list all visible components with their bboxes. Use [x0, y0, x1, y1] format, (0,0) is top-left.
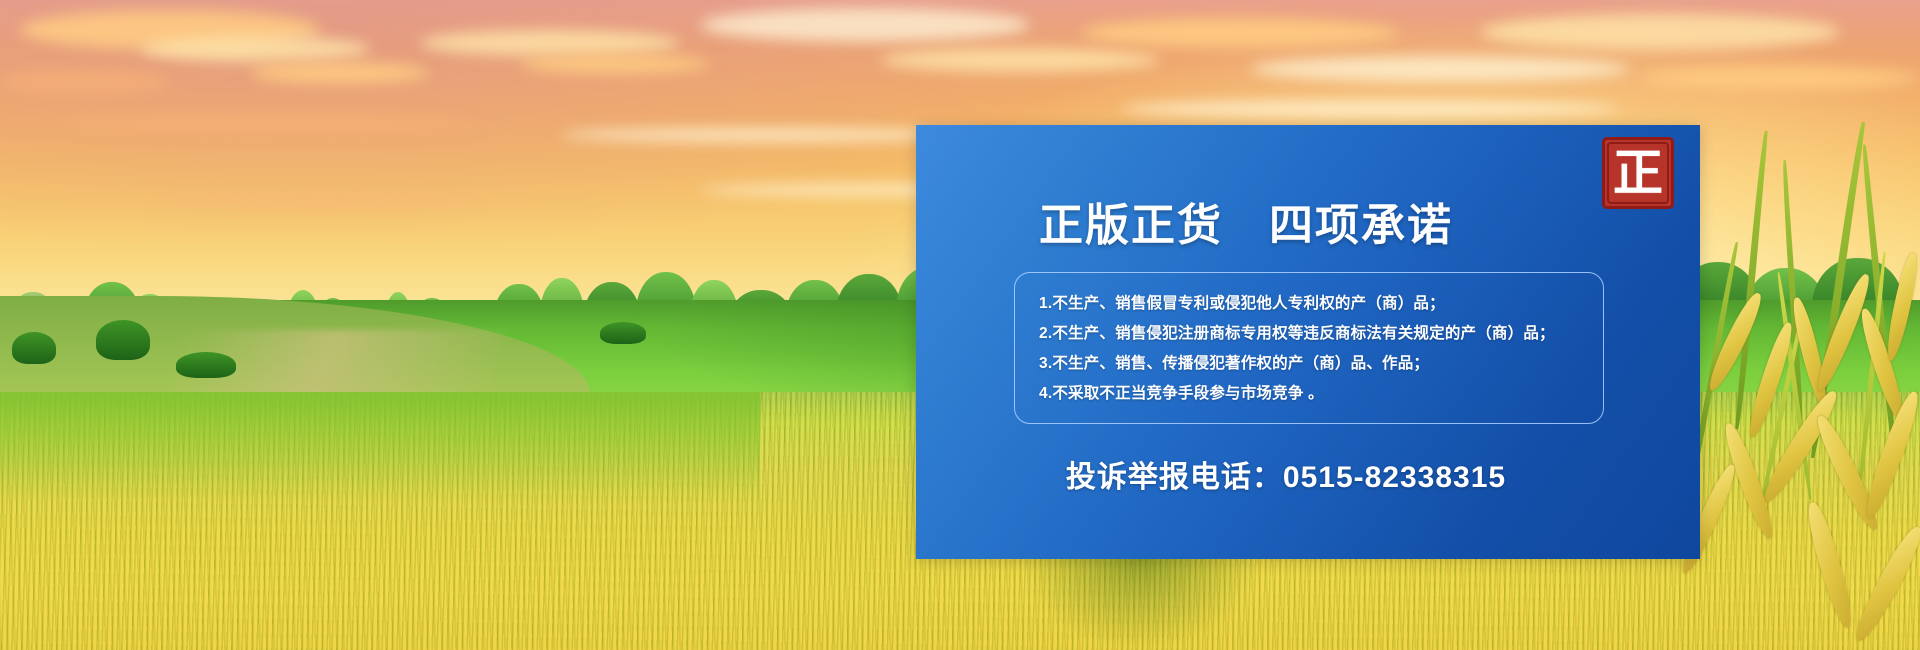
cloud-streak	[160, 196, 480, 206]
rice-ear	[1703, 290, 1767, 395]
banner-root: 正 正版正货 四项承诺 1.不生产、销售假冒专利或侵犯他人专利权的产（商）品； …	[0, 0, 1920, 650]
cloud-streak	[140, 36, 370, 62]
shrub	[12, 332, 56, 364]
zheng-seal-icon: 正	[1602, 137, 1674, 209]
complaint-hotline: 投诉举报电话：0515-82338315	[916, 452, 1656, 496]
cloud-streak	[250, 62, 430, 84]
seal-character: 正	[1602, 137, 1674, 209]
page-title: 正版正货 四项承诺	[916, 189, 1576, 253]
cloud-streak	[700, 8, 1030, 42]
cloud-streak	[1120, 100, 1620, 118]
promise-panel: 正 正版正货 四项承诺 1.不生产、销售假冒专利或侵犯他人专利权的产（商）品； …	[916, 125, 1700, 559]
cloud-streak	[420, 30, 680, 56]
rice-ear	[1802, 500, 1857, 630]
cloud-streak	[1080, 18, 1400, 48]
cloud-streak	[1250, 56, 1630, 82]
cloud-streak	[520, 54, 710, 74]
cloud-streak	[880, 48, 1160, 72]
cloud-streak	[60, 116, 480, 132]
cloud-streak	[1480, 14, 1840, 50]
cloud-streak	[1640, 66, 1920, 90]
cloud-streak	[0, 70, 170, 94]
list-item: 2.不生产、销售侵犯注册商标专用权等违反商标法有关规定的产（商）品；	[1039, 319, 1583, 349]
rice-ear	[1883, 252, 1920, 363]
shrub	[600, 322, 646, 344]
rice-field-green-edge	[0, 392, 760, 502]
list-item: 4.不采取不正当竞争手段参与市场竞争 。	[1039, 379, 1583, 409]
shrub	[176, 352, 236, 378]
rice-ear	[1849, 523, 1920, 646]
shrub	[96, 320, 150, 360]
list-item: 3.不生产、销售、传播侵犯著作权的产（商）品、作品；	[1039, 349, 1583, 379]
list-item: 1.不生产、销售假冒专利或侵犯他人专利权的产（商）品；	[1039, 289, 1583, 319]
promise-rules-box: 1.不生产、销售假冒专利或侵犯他人专利权的产（商）品； 2.不生产、销售侵犯注册…	[1014, 272, 1604, 424]
